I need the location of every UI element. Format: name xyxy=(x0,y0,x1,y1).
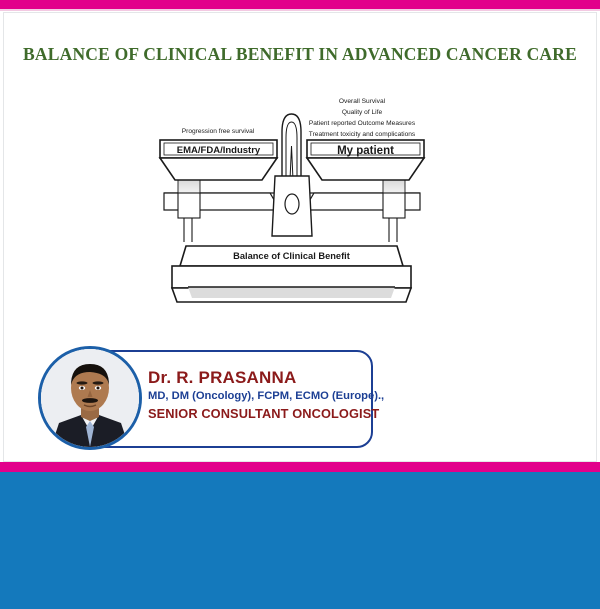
doctor-name: Dr. R. PRASANNA xyxy=(148,368,398,388)
doctor-portrait xyxy=(41,349,139,447)
left-pan-bowl xyxy=(160,158,277,180)
right-caption-2: Quality of Life xyxy=(342,109,383,116)
doctor-qualifications: MD, DM (Oncology), FCPM, ECMO (Europe)., xyxy=(148,388,398,405)
avatar xyxy=(38,346,142,450)
right-caption-3: Patient reported Outcome Measures xyxy=(309,120,416,127)
top-accent-bar xyxy=(0,0,600,9)
left-caption-1: Progression free survival xyxy=(182,128,255,135)
balance-scale-diagram: Overall Survival Quality of Life Patient… xyxy=(150,88,450,324)
page-title: BALANCE OF CLINICAL BENEFIT IN ADVANCED … xyxy=(0,44,600,65)
top-accent-bar-shadow xyxy=(0,9,600,11)
footer-divider xyxy=(0,462,600,472)
base-shadow xyxy=(188,287,395,298)
pivot-hole xyxy=(285,194,299,214)
right-hanger-body xyxy=(383,193,405,218)
right-pan-label: My patient xyxy=(337,145,394,157)
base-middle xyxy=(172,266,411,288)
base-label: Balance of Clinical Benefit xyxy=(233,251,350,261)
left-pan-label: EMA/FDA/Industry xyxy=(177,145,261,156)
poster-canvas: BALANCE OF CLINICAL BENEFIT IN ADVANCED … xyxy=(0,0,600,609)
right-caption-1: Overall Survival xyxy=(339,98,386,105)
footer: CANCURE CANCER CENTRE SUPER SPECIALITY O… xyxy=(0,472,600,609)
doctor-role: SENIOR CONSULTANT ONCOLOGIST xyxy=(148,405,398,423)
right-pan-bowl xyxy=(307,158,424,180)
right-caption-4: Treatment toxicity and complications xyxy=(309,131,416,138)
left-hanger-body xyxy=(178,193,200,218)
doctor-details: Dr. R. PRASANNA MD, DM (Oncology), FCPM,… xyxy=(148,368,398,423)
